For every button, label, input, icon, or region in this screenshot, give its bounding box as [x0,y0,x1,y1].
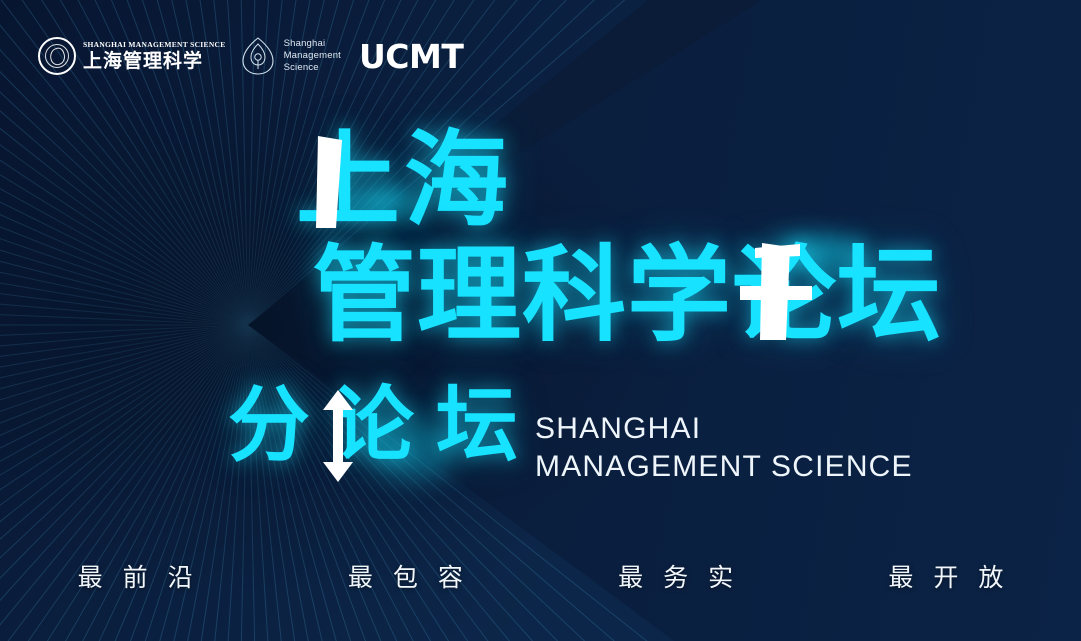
slogan-item-1: 最包容 [270,558,540,594]
logo-shanghai-science[interactable]: Shanghai Management Science [240,36,359,76]
circular-emblem-icon [38,37,76,75]
logo-row: SHANGHAI MANAGEMENT SCIENCE 上海管理科学 Shang… [38,36,463,76]
slogan-row: 最前沿 最包容 最务实 最开放 [0,556,1081,596]
logo-ssci-line2: Management [284,50,341,62]
headline-text-forum: 管理科学论坛 [312,243,942,347]
headline-line-3: 分论坛 [228,385,540,467]
subtitle-english: SHANGHAI MANAGEMENT SCIENCE [535,410,913,486]
logo-ucmt[interactable]: UCMT [359,40,463,73]
subtitle-line-2: MANAGEMENT SCIENCE [535,448,913,486]
headline-line-2: 管理科学论坛 [312,243,942,347]
headline-text-subforum: 分论坛 [228,385,540,467]
logo-sms-english: SHANGHAI MANAGEMENT SCIENCE [83,41,226,49]
logo-shanghai-management-science[interactable]: SHANGHAI MANAGEMENT SCIENCE 上海管理科学 [38,37,240,75]
slogan-item-0: 最前沿 [0,558,270,594]
logo-sms-chinese: 上海管理科学 [83,52,226,71]
headline-line-1: 上海 [296,128,512,232]
droplet-swirl-icon [240,36,276,76]
logo-ssci-line1: Shanghai [284,38,341,50]
slogan-item-2: 最务实 [541,558,811,594]
headline-text-shanghai: 上海 [296,128,512,232]
subtitle-line-1: SHANGHAI [535,410,913,448]
poster-canvas: SHANGHAI MANAGEMENT SCIENCE 上海管理科学 Shang… [0,0,1081,641]
logo-ssci-line3: Science [284,62,341,74]
slogan-item-3: 最开放 [811,558,1081,594]
white-double-arrow-icon [320,390,356,482]
